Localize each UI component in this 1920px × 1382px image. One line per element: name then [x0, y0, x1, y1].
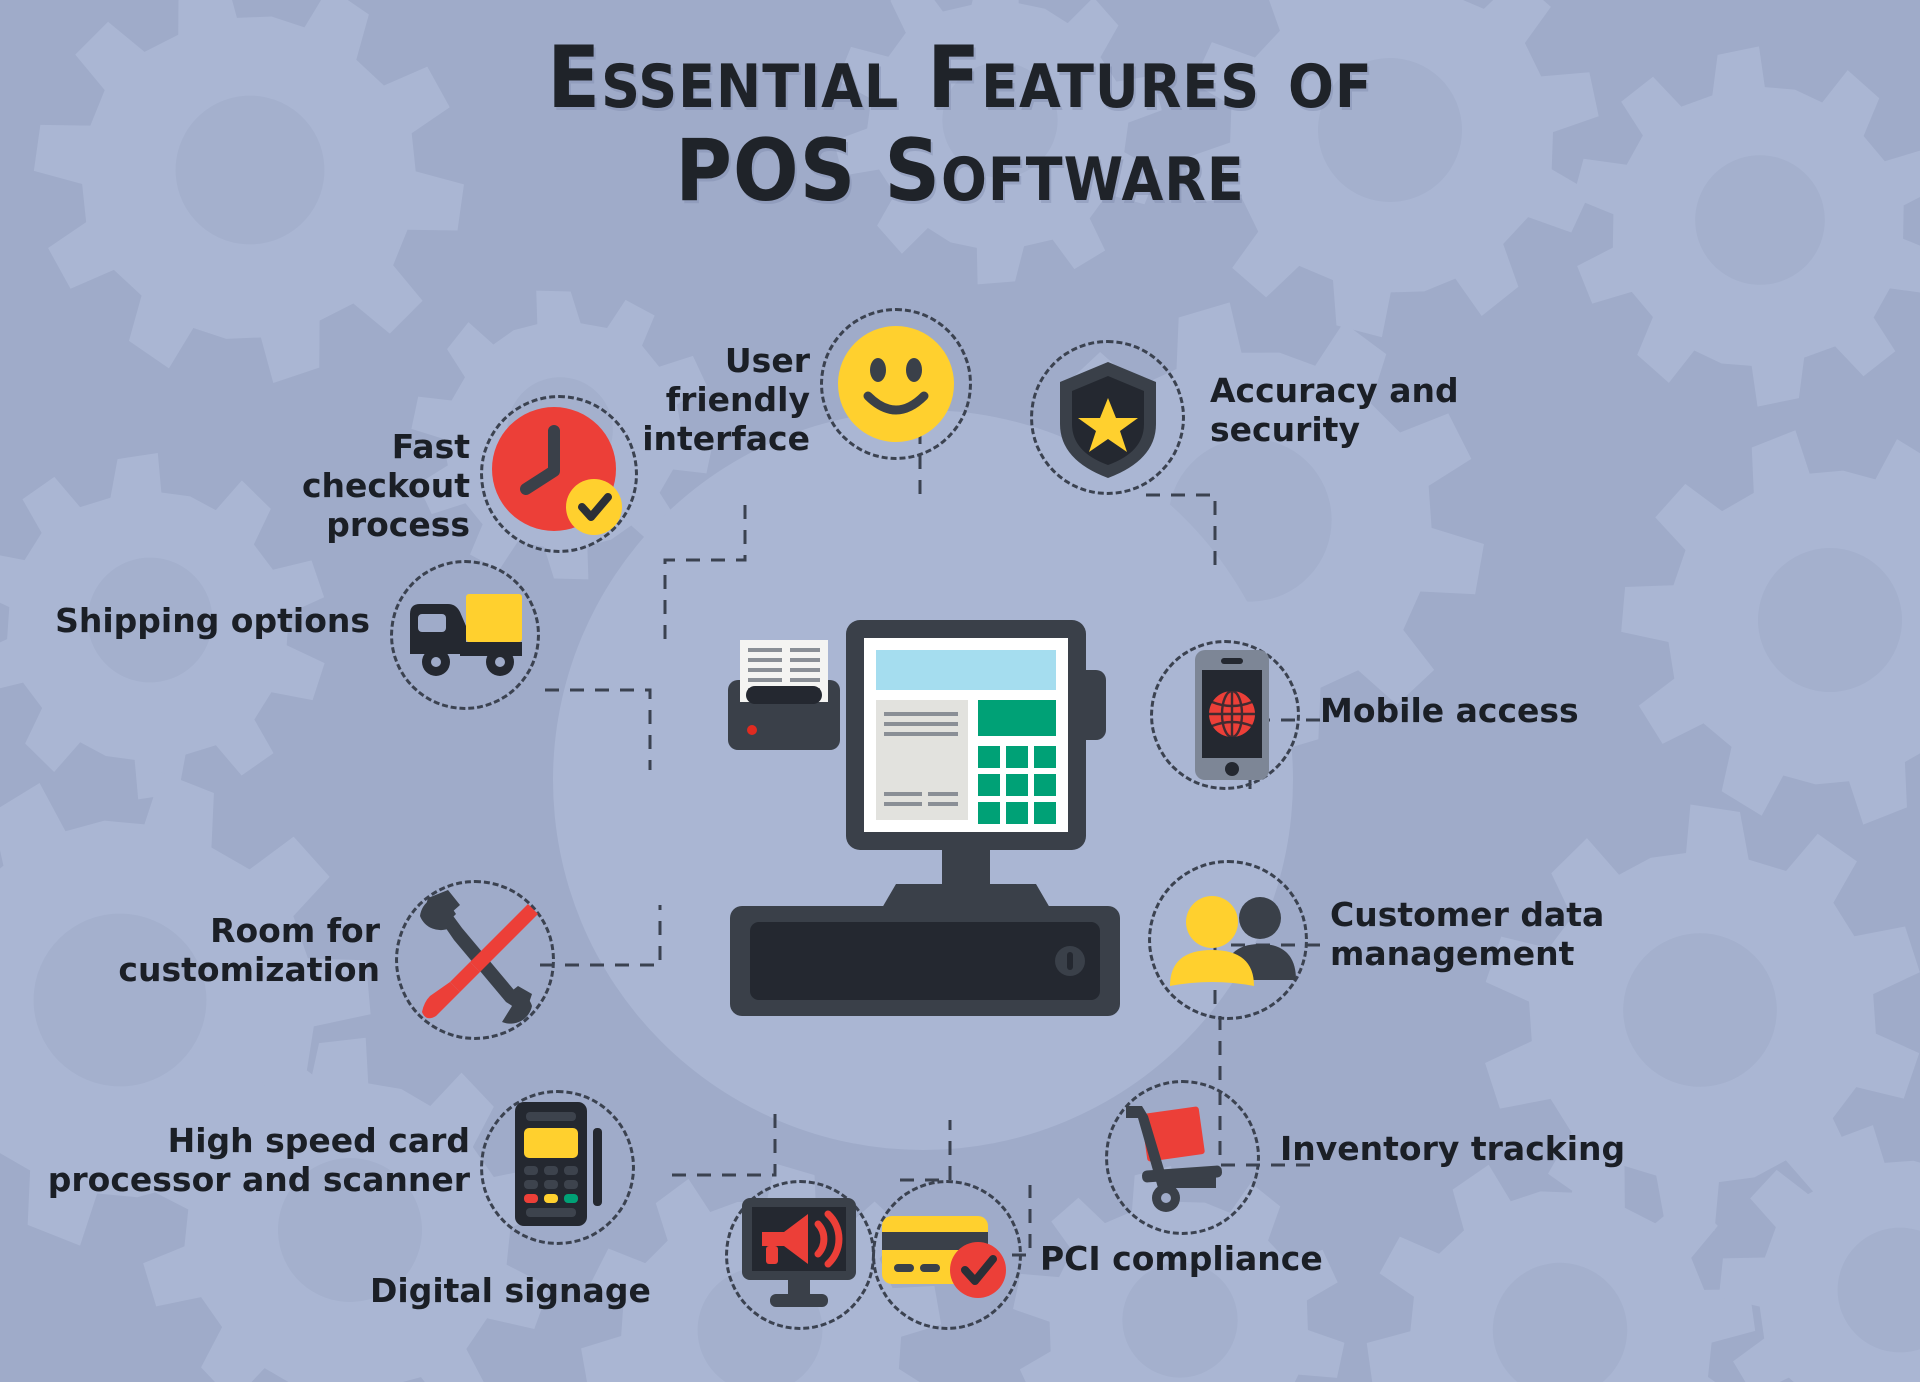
feature-label: Accuracy and security — [1210, 372, 1680, 450]
wrench-screwdriver-icon — [410, 894, 542, 1026]
title-line-1: Essential Features of — [547, 28, 1373, 128]
infographic-canvas: Essential Features of POS Software — [0, 0, 1920, 1382]
feature-digital-signage[interactable]: Digital signage — [350, 1180, 910, 1370]
feature-mobile-access[interactable]: Mobile access — [1150, 640, 1850, 810]
feature-label: Customer data management — [1330, 896, 1800, 974]
credit-card-check-icon — [882, 1210, 1016, 1302]
smartphone-globe-icon — [1195, 650, 1269, 780]
clock-check-icon — [492, 407, 626, 541]
megaphone-monitor-icon — [742, 1198, 860, 1310]
smiley-icon — [838, 326, 954, 442]
feature-label: Shipping options — [20, 602, 370, 641]
feature-user-friendly-interface[interactable]: User friendly interface — [640, 300, 1000, 470]
receipt-printer-icon — [728, 640, 840, 750]
feature-accuracy-and-security[interactable]: Accuracy and security — [1030, 340, 1790, 520]
delivery-truck-icon — [404, 588, 528, 684]
shield-star-icon — [1056, 360, 1160, 480]
feature-room-for-customization[interactable]: Room for customization — [40, 880, 570, 1060]
two-users-icon — [1168, 894, 1300, 990]
feature-label: Digital signage — [370, 1272, 720, 1311]
feature-shipping-options[interactable]: Shipping options — [20, 560, 550, 720]
feature-inventory-tracking[interactable]: Inventory tracking — [1090, 1080, 1790, 1260]
feature-label: Mobile access — [1320, 692, 1790, 731]
feature-label: Inventory tracking — [1280, 1130, 1730, 1169]
feature-customer-data-management[interactable]: Customer data management — [1140, 860, 1840, 1050]
feature-label: Room for customization — [40, 912, 380, 990]
drawer-lock-icon — [1055, 946, 1085, 976]
page-title: Essential Features of POS Software — [0, 32, 1920, 218]
title-line-2: POS Software — [0, 125, 1920, 218]
feature-label: Fast checkout process — [230, 428, 470, 545]
hand-truck-icon — [1120, 1102, 1246, 1214]
feature-fast-checkout-process[interactable]: Fast checkout process — [230, 390, 650, 560]
